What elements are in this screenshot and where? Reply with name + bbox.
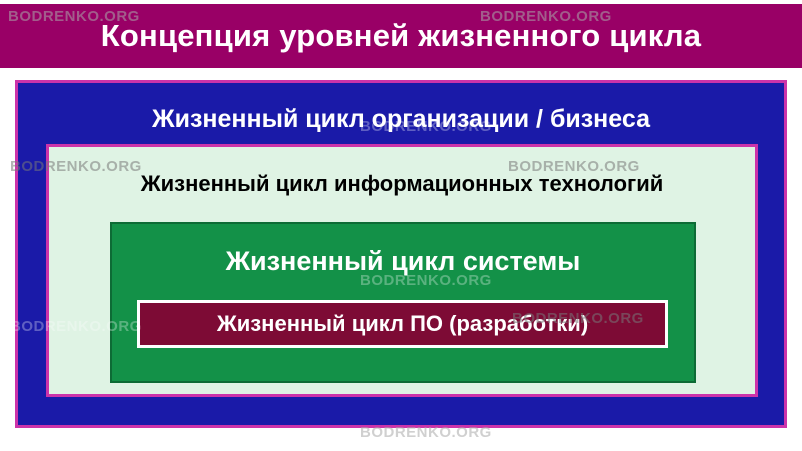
level-information-technology-label: Жизненный цикл информационных технологий — [49, 171, 755, 197]
page-title: Концепция уровней жизненного цикла — [101, 18, 701, 54]
level-system-label: Жизненный цикл системы — [112, 246, 694, 277]
level-software: Жизненный цикл ПО (разработки) — [137, 300, 668, 348]
level-software-label: Жизненный цикл ПО (разработки) — [217, 311, 588, 337]
level-organization-label: Жизненный цикл организации / бизнеса — [18, 105, 784, 134]
slide-title-banner: Концепция уровней жизненного цикла — [0, 4, 802, 68]
